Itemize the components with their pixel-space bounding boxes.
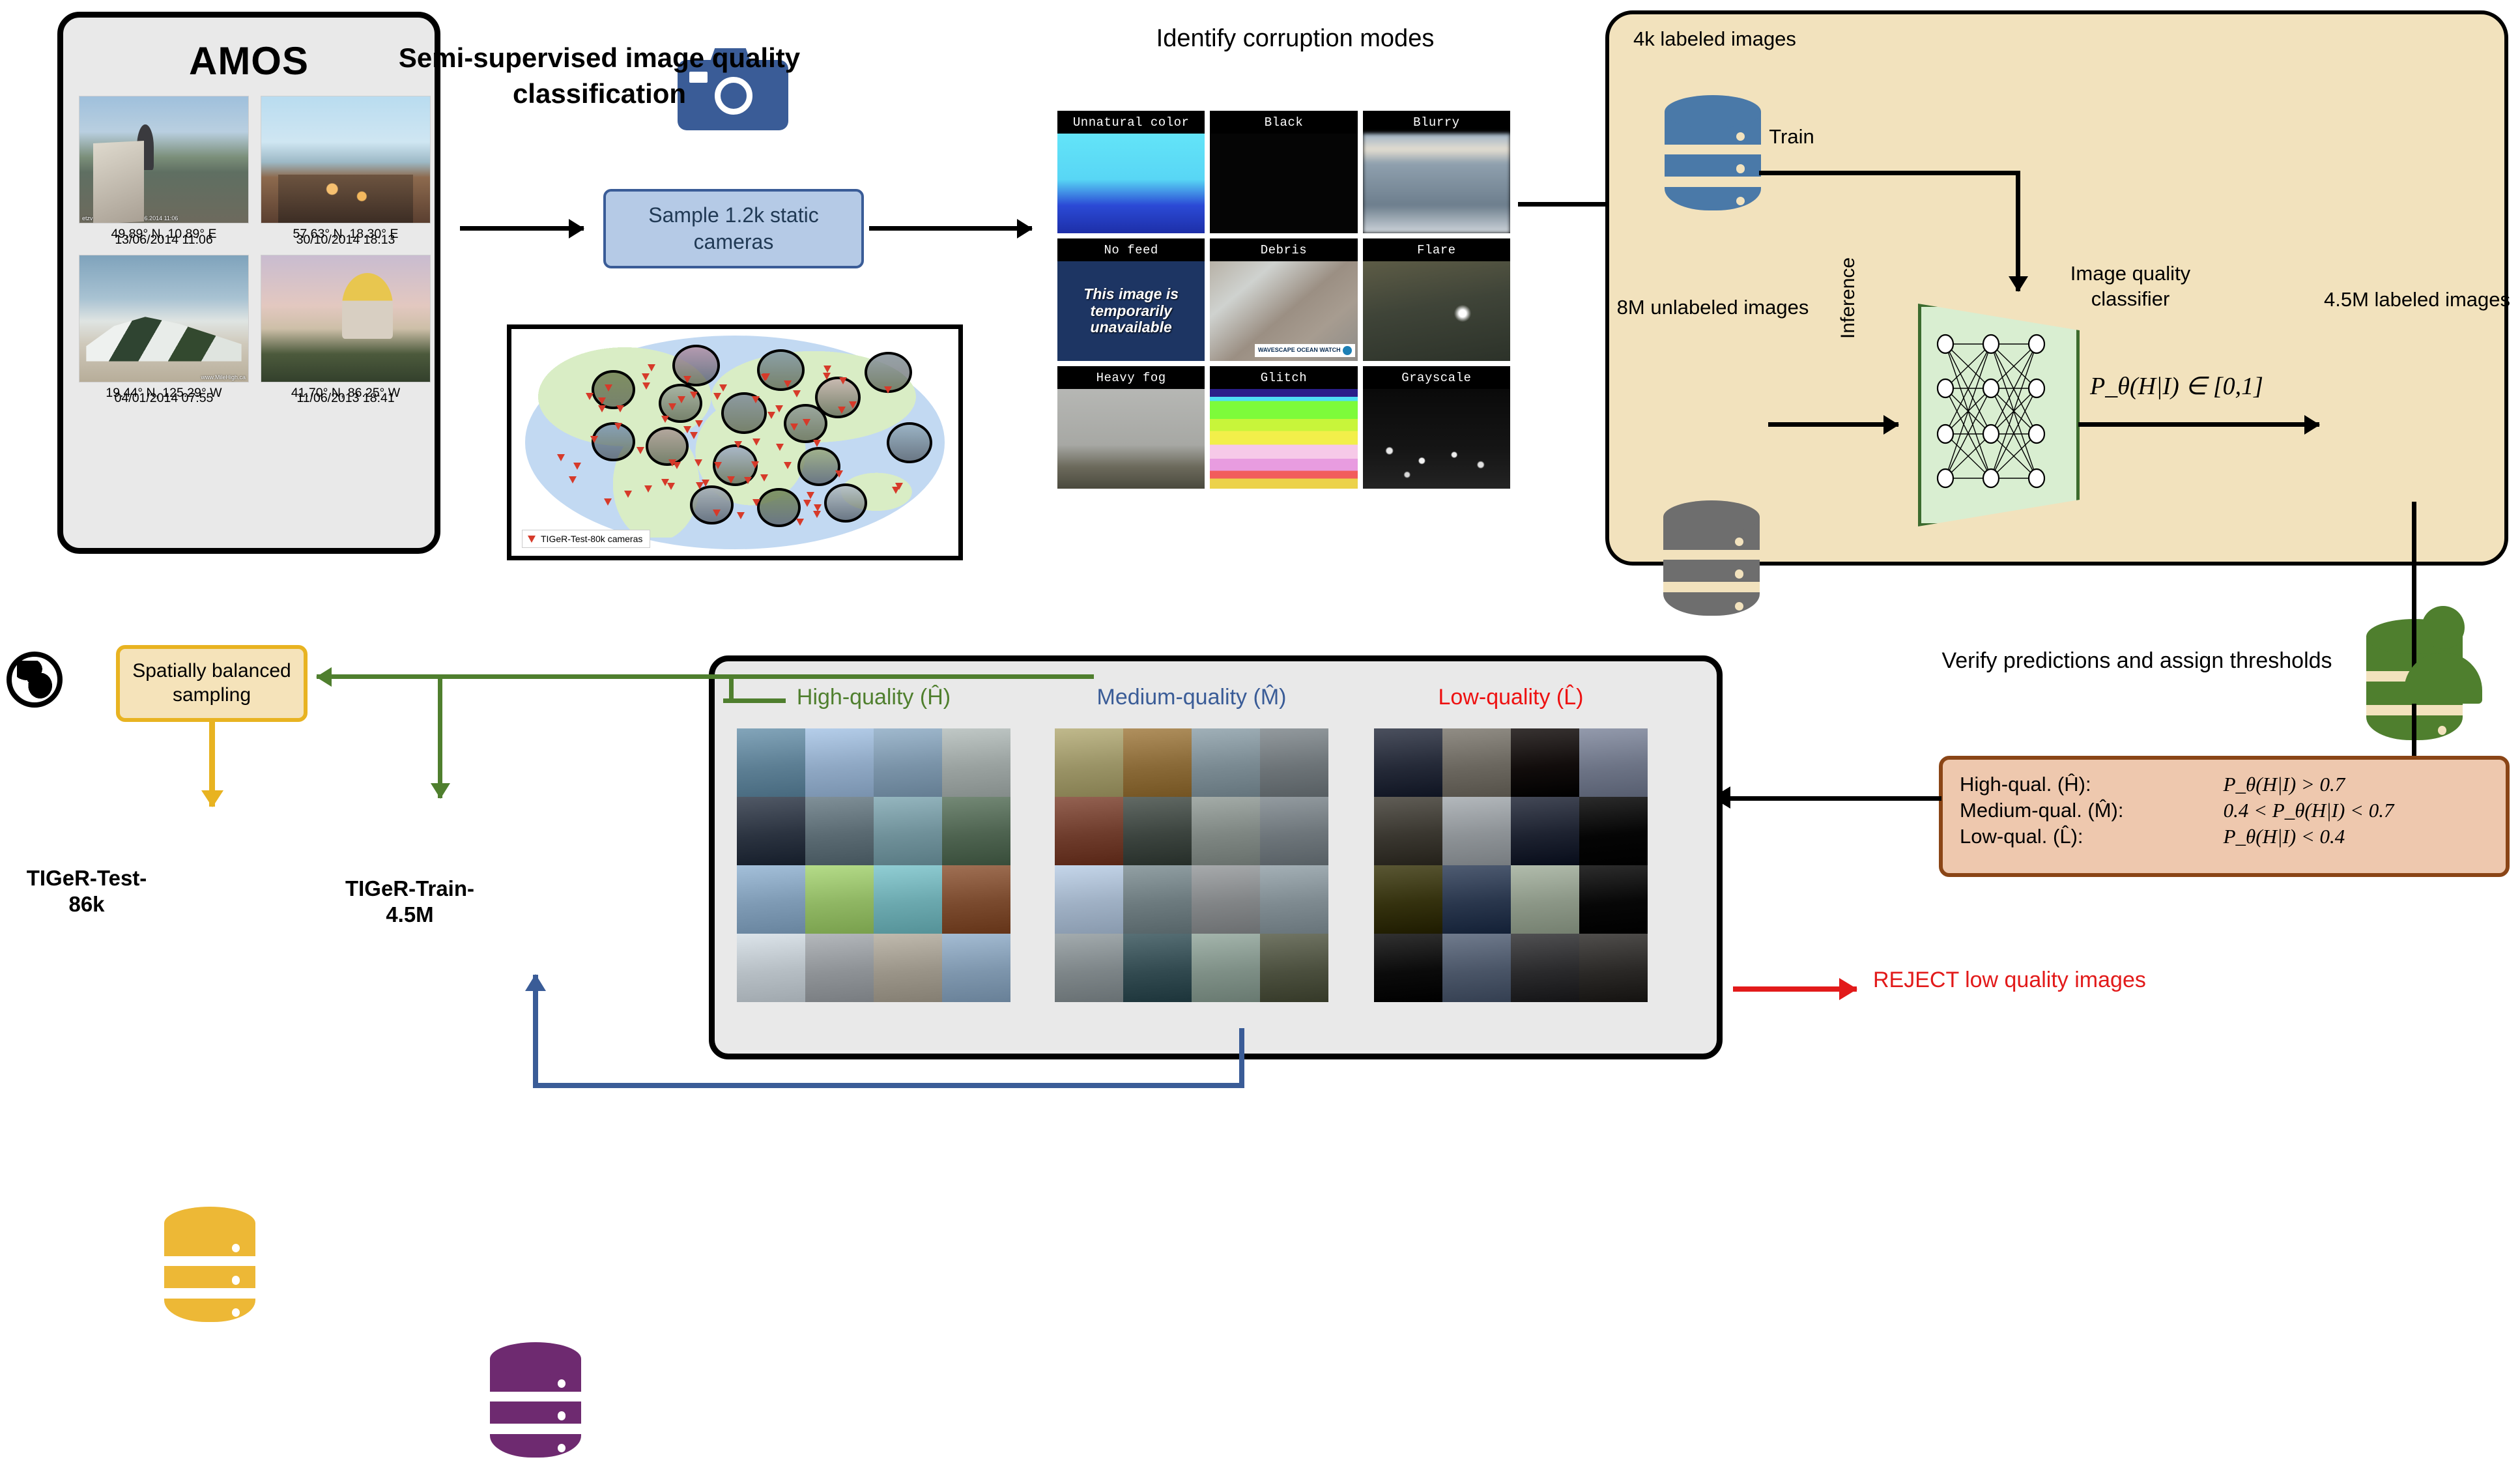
- map-pin-icon: [719, 384, 727, 392]
- quality-header-medium: Medium-quality (M̂): [1055, 685, 1328, 710]
- quality-thumbnail: [874, 797, 942, 865]
- line-medium-down: [1239, 1028, 1244, 1088]
- ssl-title: Semi-supervised image quality classifica…: [352, 40, 847, 111]
- map-pin-icon: [667, 483, 675, 490]
- map-pin-icon: [714, 462, 722, 469]
- amos-camera-1: 57.63° N, 18.30° E 30/10/2014 18:13: [261, 96, 431, 252]
- quality-thumbnail: [1511, 934, 1579, 1002]
- output-db-label: 4.5M labeled images: [2319, 287, 2515, 312]
- corruption-thumbnail: [1363, 261, 1510, 361]
- amos-camera-grid: etzverein Bamberg 13.06.2014 11:06 49.89…: [79, 96, 431, 410]
- arrow-amos-to-sample: [460, 226, 584, 231]
- quality-thumbnail: [1055, 865, 1123, 934]
- quality-thumbnail: [805, 865, 874, 934]
- world-map-panel: TIGeR-Test-80k cameras: [507, 324, 963, 560]
- quality-thumbnail: [1055, 934, 1123, 1002]
- probability-label: P_θ(H|I) ∈ [0,1]: [2090, 371, 2263, 401]
- map-pin-icon: [637, 447, 644, 454]
- map-pin-icon: [814, 504, 822, 511]
- quality-grid-low: [1374, 728, 1648, 1002]
- corruption-thumbnail: This image is temporarily unavailable: [1057, 261, 1205, 361]
- map-pin-icon: [713, 510, 721, 517]
- map-pin-icon: [839, 377, 847, 384]
- map-pin-icon: [737, 512, 745, 519]
- quality-thumbnail: [1192, 797, 1260, 865]
- quality-grid-medium: [1055, 728, 1328, 1002]
- map-pin-icon: [695, 420, 703, 427]
- map-camera-thumbnail: [672, 345, 720, 386]
- map-pin-icon: [678, 396, 685, 403]
- quality-header-low: Low-quality (L̂): [1374, 685, 1648, 710]
- quality-thumbnail: [1579, 865, 1648, 934]
- camera-thumbnail: etzverein Bamberg 13.06.2014 11:06: [79, 96, 249, 223]
- quality-column-high: High-quality (Ĥ): [737, 685, 1010, 1002]
- corruption-thumbnail: [1057, 134, 1205, 233]
- spatially-balanced-sampling-box[interactable]: Spatially balanced sampling: [116, 645, 308, 722]
- map-pin-icon: [616, 405, 624, 412]
- map-pin-icon: [644, 485, 652, 493]
- corruption-card-black: Black: [1210, 111, 1357, 233]
- map-pin-icon: [744, 477, 752, 484]
- map-pin-icon: [605, 384, 612, 392]
- camera-thumbnail: [261, 255, 431, 382]
- corruption-modes-grid: Unnatural color Black Blurry No feed Thi…: [1057, 111, 1510, 489]
- map-pin-icon: [642, 382, 650, 390]
- inference-label: Inference: [1837, 257, 1859, 339]
- map-pin-icon: [586, 393, 594, 400]
- map-camera-thumbnail: [757, 488, 800, 527]
- map-camera-thumbnail: [646, 427, 689, 466]
- corruption-card-glitch: Glitch: [1210, 366, 1357, 489]
- map-pin-icon: [573, 463, 581, 470]
- quality-thumbnail: [1192, 728, 1260, 797]
- wave-icon: [1343, 346, 1352, 355]
- map-pin-icon: [752, 438, 760, 446]
- quality-thumbnail: [1442, 728, 1511, 797]
- corruption-card-no-feed: No feed This image is temporarily unavai…: [1057, 238, 1205, 361]
- map-pin-icon: [642, 373, 650, 381]
- map-pin-icon: [727, 476, 735, 483]
- map-pin-icon: [569, 476, 577, 483]
- quality-thumbnail: [805, 728, 874, 797]
- quality-column-medium: Medium-quality (M̂): [1055, 685, 1328, 1002]
- map-pin-icon: [734, 441, 742, 448]
- corruption-label: Debris: [1210, 238, 1357, 261]
- corruption-label: Heavy fog: [1057, 366, 1205, 389]
- quality-thumbnail: [1260, 865, 1328, 934]
- quality-thumbnail: [942, 865, 1010, 934]
- line-train-branch: [438, 674, 734, 679]
- corruption-card-debris: Debris WAVESCAPE OCEAN WATCH: [1210, 238, 1357, 361]
- camera-timestamp: 04/01/2014 07:55: [79, 388, 249, 410]
- map-pin-icon: [761, 374, 769, 381]
- map-pin-icon: [702, 480, 709, 487]
- quality-thumbnail: [1374, 865, 1442, 934]
- debris-watermark: WAVESCAPE OCEAN WATCH: [1255, 344, 1355, 357]
- tiger-train-database-icon: [490, 1342, 581, 1466]
- map-pin-icon: [648, 364, 655, 371]
- quality-thumbnail: [1579, 728, 1648, 797]
- quality-thumbnail: [737, 865, 805, 934]
- map-pin-icon: [614, 423, 622, 430]
- map-pin-icon: [803, 500, 811, 507]
- map-pin-icon: [849, 401, 857, 409]
- quality-thumbnail: [1055, 728, 1123, 797]
- corruption-label: Glitch: [1210, 366, 1357, 389]
- line-high-to-train: [729, 674, 1094, 679]
- map-pin-icon: [823, 373, 831, 380]
- map-pin-icon: [604, 498, 612, 506]
- quality-thumbnail: [942, 797, 1010, 865]
- map-pin-icon: [807, 492, 814, 499]
- amos-camera-3: 41.70° N, 86.25° W 11/06/2013 18:41: [261, 255, 431, 411]
- camera-timestamp: 30/10/2014 18:13: [261, 229, 431, 252]
- arrow-to-output-db: [2078, 422, 2319, 427]
- corruption-thumbnail: [1210, 134, 1357, 233]
- arrow-sampling-to-test-db: [209, 722, 215, 807]
- corruption-label: No feed: [1057, 238, 1205, 261]
- map-pin-icon: [884, 386, 892, 394]
- map-legend-label: TIGeR-Test-80k cameras: [541, 534, 642, 544]
- camera-timestamp: 11/06/2013 18:41: [261, 388, 431, 410]
- quality-thumbnail: [1442, 865, 1511, 934]
- quality-thumbnail: [1260, 934, 1328, 1002]
- quality-thumbnail: [874, 934, 942, 1002]
- map-camera-thumbnail: [721, 392, 767, 434]
- quality-thumbnail: [1511, 797, 1579, 865]
- map-camera-thumbnail: [824, 483, 867, 523]
- arrow-medium-to-train-db: [533, 975, 538, 1085]
- tiger-train-label: TIGeR-Train-4.5M: [334, 876, 486, 928]
- sampling-label: Spatially balanced sampling: [120, 659, 304, 707]
- train-line: [1759, 171, 2020, 175]
- corruption-label: Unnatural color: [1057, 111, 1205, 134]
- camera-thumbnail: [261, 96, 431, 223]
- corruption-thumbnail: [1363, 134, 1510, 233]
- map-camera-thumbnail: [690, 485, 733, 525]
- quality-panel: High-quality (Ĥ) Medium-quality (M̂) Low…: [709, 655, 1723, 1059]
- neural-network-icon: [1930, 330, 2060, 498]
- map-pin-icon: [528, 536, 536, 543]
- debris-watermark-text: WAVESCAPE OCEAN WATCH: [1258, 347, 1341, 353]
- map-pin-icon: [557, 454, 565, 461]
- quality-thumbnail: [1511, 728, 1579, 797]
- corruption-title: Identify corruption modes: [1035, 25, 1556, 53]
- reject-label: REJECT low quality images: [1873, 968, 2146, 993]
- map-legend: TIGeR-Test-80k cameras: [522, 530, 650, 548]
- corruption-thumbnail: [1363, 389, 1510, 489]
- map-pin-icon: [838, 407, 846, 414]
- quality-thumbnail: [1442, 934, 1511, 1002]
- quality-thumbnail: [1579, 934, 1648, 1002]
- labeled-database-icon: [1665, 95, 1761, 219]
- quality-thumbnail: [874, 865, 942, 934]
- corruption-thumbnail: [1057, 389, 1205, 489]
- train-arrow: [2016, 171, 2020, 291]
- map-pin-icon: [590, 436, 598, 443]
- threshold-rule: P_θ(H|I) < 0.4: [2207, 824, 2489, 850]
- map-pin-icon: [752, 396, 760, 403]
- threshold-rule: P_θ(H|I) > 0.7: [2207, 771, 2489, 798]
- quality-thumbnail: [1192, 934, 1260, 1002]
- quality-thumbnail: [1511, 865, 1579, 934]
- threshold-row-low: Low-qual. (L̂): P_θ(H|I) < 0.4: [1960, 824, 2489, 850]
- arrow-sample-to-corruption: [869, 226, 1032, 231]
- amos-camera-0: etzverein Bamberg 13.06.2014 11:06 49.89…: [79, 96, 249, 252]
- quality-thumbnail: [1374, 728, 1442, 797]
- arrow-down-to-train-db: [438, 674, 442, 798]
- threshold-row-medium: Medium-qual. (M̂): 0.4 < P_θ(H|I) < 0.7: [1960, 798, 2489, 824]
- unlabeled-db-label: 8M unlabeled images: [1605, 295, 1820, 320]
- map-camera-thumbnail: [887, 422, 932, 464]
- amos-camera-2: www.MileHigh.ca 19.44° N, 125.29° W 04/0…: [79, 255, 249, 411]
- camera-watermark: www.MileHigh.ca: [201, 374, 246, 381]
- map-pin-icon: [694, 459, 702, 467]
- corruption-card-grayscale: Grayscale: [1363, 366, 1510, 489]
- map-pin-icon: [796, 519, 804, 526]
- map-pin-icon: [752, 499, 760, 506]
- map-pin-icon: [784, 381, 792, 388]
- labeled-db-label: 4k labeled images: [1624, 26, 1806, 51]
- quality-thumbnail: [942, 934, 1010, 1002]
- quality-thumbnail: [1374, 934, 1442, 1002]
- map-pin-icon: [835, 470, 843, 478]
- map-pin-icon: [673, 462, 681, 469]
- no-feed-message: This image is temporarily unavailable: [1057, 286, 1205, 336]
- map-camera-thumbnail: [797, 447, 840, 486]
- classifier-label: Image quality classifier: [2033, 261, 2228, 311]
- unlabeled-database-icon: [1663, 500, 1760, 624]
- quality-column-low: Low-quality (L̂): [1374, 685, 1648, 1002]
- map-pin-icon: [793, 390, 801, 397]
- threshold-rule: 0.4 < P_θ(H|I) < 0.7: [2207, 798, 2489, 824]
- quality-thumbnail: [1123, 797, 1192, 865]
- map-pin-icon: [775, 405, 783, 412]
- corruption-label: Grayscale: [1363, 366, 1510, 389]
- map-pin-icon: [790, 424, 798, 431]
- map-pin-icon: [598, 405, 606, 412]
- map-pin-icon: [760, 474, 768, 481]
- train-label: Train: [1726, 124, 1857, 149]
- quality-thumbnail: [1579, 797, 1648, 865]
- quality-thumbnail: [1374, 797, 1442, 865]
- map-pin-icon: [683, 376, 691, 383]
- quality-thumbnail: [1123, 865, 1192, 934]
- corruption-label: Flare: [1363, 238, 1510, 261]
- verify-label: Verify predictions and assign thresholds: [1922, 646, 2352, 675]
- map-pin-icon: [767, 412, 775, 419]
- quality-thumbnail: [805, 934, 874, 1002]
- threshold-box: High-qual. (Ĥ): P_θ(H|I) > 0.7 Medium-qu…: [1939, 756, 2510, 877]
- globe-icon: [7, 652, 63, 708]
- tiger-test-label: TIGeR-Test-86k: [18, 865, 155, 918]
- map-pin-icon: [598, 397, 606, 405]
- threshold-name: High-qual. (Ĥ):: [1960, 771, 2207, 798]
- map-pin-icon: [895, 483, 903, 490]
- arrow-inference: [1768, 422, 1898, 427]
- corruption-thumbnail: WAVESCAPE OCEAN WATCH: [1210, 261, 1357, 361]
- corruption-card-unnatural-color: Unnatural color: [1057, 111, 1205, 233]
- corruption-label: Blurry: [1363, 111, 1510, 134]
- quality-thumbnail: [1260, 797, 1328, 865]
- quality-thumbnail: [737, 728, 805, 797]
- map-pin-icon: [690, 392, 698, 399]
- map-pin-icon: [683, 426, 691, 433]
- camera-watermark: etzverein Bamberg 13.06.2014 11:06: [82, 215, 178, 222]
- corruption-card-flare: Flare: [1363, 238, 1510, 361]
- corruption-card-blurry: Blurry: [1363, 111, 1510, 233]
- threshold-name: Medium-qual. (M̂):: [1960, 798, 2207, 824]
- quality-thumbnail: [737, 797, 805, 865]
- camera-thumbnail: www.MileHigh.ca: [79, 255, 249, 382]
- sample-cameras-label: Sample 1.2k static cameras: [606, 202, 861, 255]
- quality-thumbnail: [1260, 728, 1328, 797]
- line-thresholds-to-quality: [1726, 796, 1941, 801]
- quality-thumbnail: [805, 797, 874, 865]
- threshold-row-high: High-qual. (Ĥ): P_θ(H|I) > 0.7: [1960, 771, 2489, 798]
- arrow-reject: [1733, 986, 1857, 992]
- camera-timestamp: 13/06/2014 11:06: [79, 229, 249, 252]
- quality-thumbnail: [1123, 728, 1192, 797]
- quality-thumbnail: [942, 728, 1010, 797]
- map-camera-thumbnail: [757, 349, 805, 391]
- map-pin-icon: [668, 403, 676, 410]
- tiger-test-database-icon: [164, 1207, 255, 1330]
- quality-thumbnail: [1192, 865, 1260, 934]
- sample-cameras-box[interactable]: Sample 1.2k static cameras: [603, 189, 864, 268]
- map-pin-icon: [784, 462, 792, 469]
- quality-header-high: High-quality (Ĥ): [737, 685, 1010, 710]
- map-pin-icon: [624, 491, 632, 498]
- corruption-card-heavy-fog: Heavy fog: [1057, 366, 1205, 489]
- person-icon: [2404, 606, 2482, 704]
- line-medium-left: [533, 1083, 1244, 1088]
- quality-thumbnail: [874, 728, 942, 797]
- map-pin-icon: [661, 416, 669, 423]
- threshold-name: Low-qual. (L̂):: [1960, 824, 2207, 850]
- quality-thumbnail: [1123, 934, 1192, 1002]
- quality-thumbnail: [737, 934, 805, 1002]
- corruption-thumbnail: [1210, 389, 1357, 489]
- map-pin-icon: [751, 461, 759, 468]
- quality-thumbnail: [1442, 797, 1511, 865]
- corruption-label: Black: [1210, 111, 1357, 134]
- quality-grid-high: [737, 728, 1010, 1002]
- map-pin-icon: [713, 393, 721, 400]
- map-pin-icon: [803, 419, 810, 426]
- map-pin-icon: [776, 444, 784, 451]
- quality-thumbnail: [1055, 797, 1123, 865]
- map-pin-icon: [813, 440, 821, 447]
